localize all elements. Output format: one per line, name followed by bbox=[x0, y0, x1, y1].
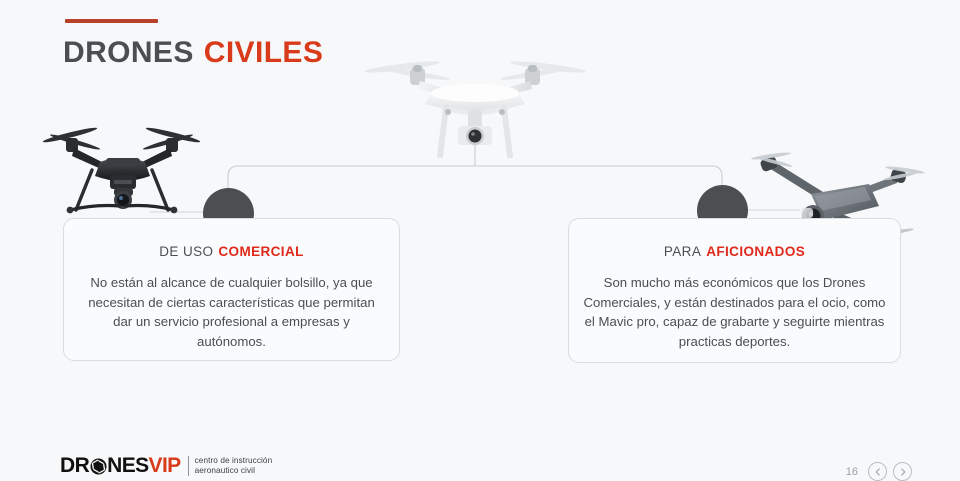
page-title: DRONESCIVILES bbox=[63, 36, 323, 70]
card-hobby-heading: PARAAFICIONADOS bbox=[664, 244, 805, 259]
page-title-accent: CIVILES bbox=[204, 36, 324, 69]
slide-pager: 16 bbox=[846, 462, 912, 481]
card-hobby-body: Son mucho más económicos que los Drones … bbox=[569, 273, 900, 351]
logo-part-dr: DR bbox=[60, 455, 89, 476]
logo-part-nes: NES bbox=[107, 455, 148, 476]
logo-divider bbox=[188, 456, 189, 476]
footer-logo: DR NES VIP ce bbox=[60, 455, 272, 476]
page-title-primary: DRONES bbox=[63, 36, 194, 69]
card-commercial-heading-prefix: DE USO bbox=[159, 244, 213, 259]
previous-slide-button[interactable] bbox=[868, 462, 887, 481]
card-commercial-heading-accent: COMERCIAL bbox=[218, 244, 303, 259]
center-drone-image bbox=[360, 48, 590, 158]
card-hobby-heading-accent: AFICIONADOS bbox=[706, 244, 805, 259]
logo-tagline: centro de instrucción aeronautico civil bbox=[195, 456, 273, 476]
page-number: 16 bbox=[846, 466, 858, 478]
logo-tagline-line2: aeronautico civil bbox=[195, 466, 273, 476]
camera-aperture-icon bbox=[90, 458, 107, 475]
slide-canvas: DRONESCIVILES bbox=[0, 0, 960, 480]
logo-part-vip: VIP bbox=[149, 455, 181, 476]
card-commercial-heading: DE USOCOMERCIAL bbox=[159, 244, 304, 259]
next-slide-button[interactable] bbox=[893, 462, 912, 481]
logo-wordmark: DR NES VIP bbox=[60, 455, 181, 476]
card-commercial-body: No están al alcance de cualquier bolsill… bbox=[64, 273, 399, 351]
title-accent-bar bbox=[65, 19, 158, 23]
card-commercial[interactable]: DE USOCOMERCIAL No están al alcance de c… bbox=[63, 218, 400, 361]
left-drone-image bbox=[40, 118, 205, 223]
card-hobby-heading-prefix: PARA bbox=[664, 244, 701, 259]
logo-tagline-line1: centro de instrucción bbox=[195, 456, 273, 466]
card-hobby[interactable]: PARAAFICIONADOS Son mucho más económicos… bbox=[568, 218, 901, 363]
